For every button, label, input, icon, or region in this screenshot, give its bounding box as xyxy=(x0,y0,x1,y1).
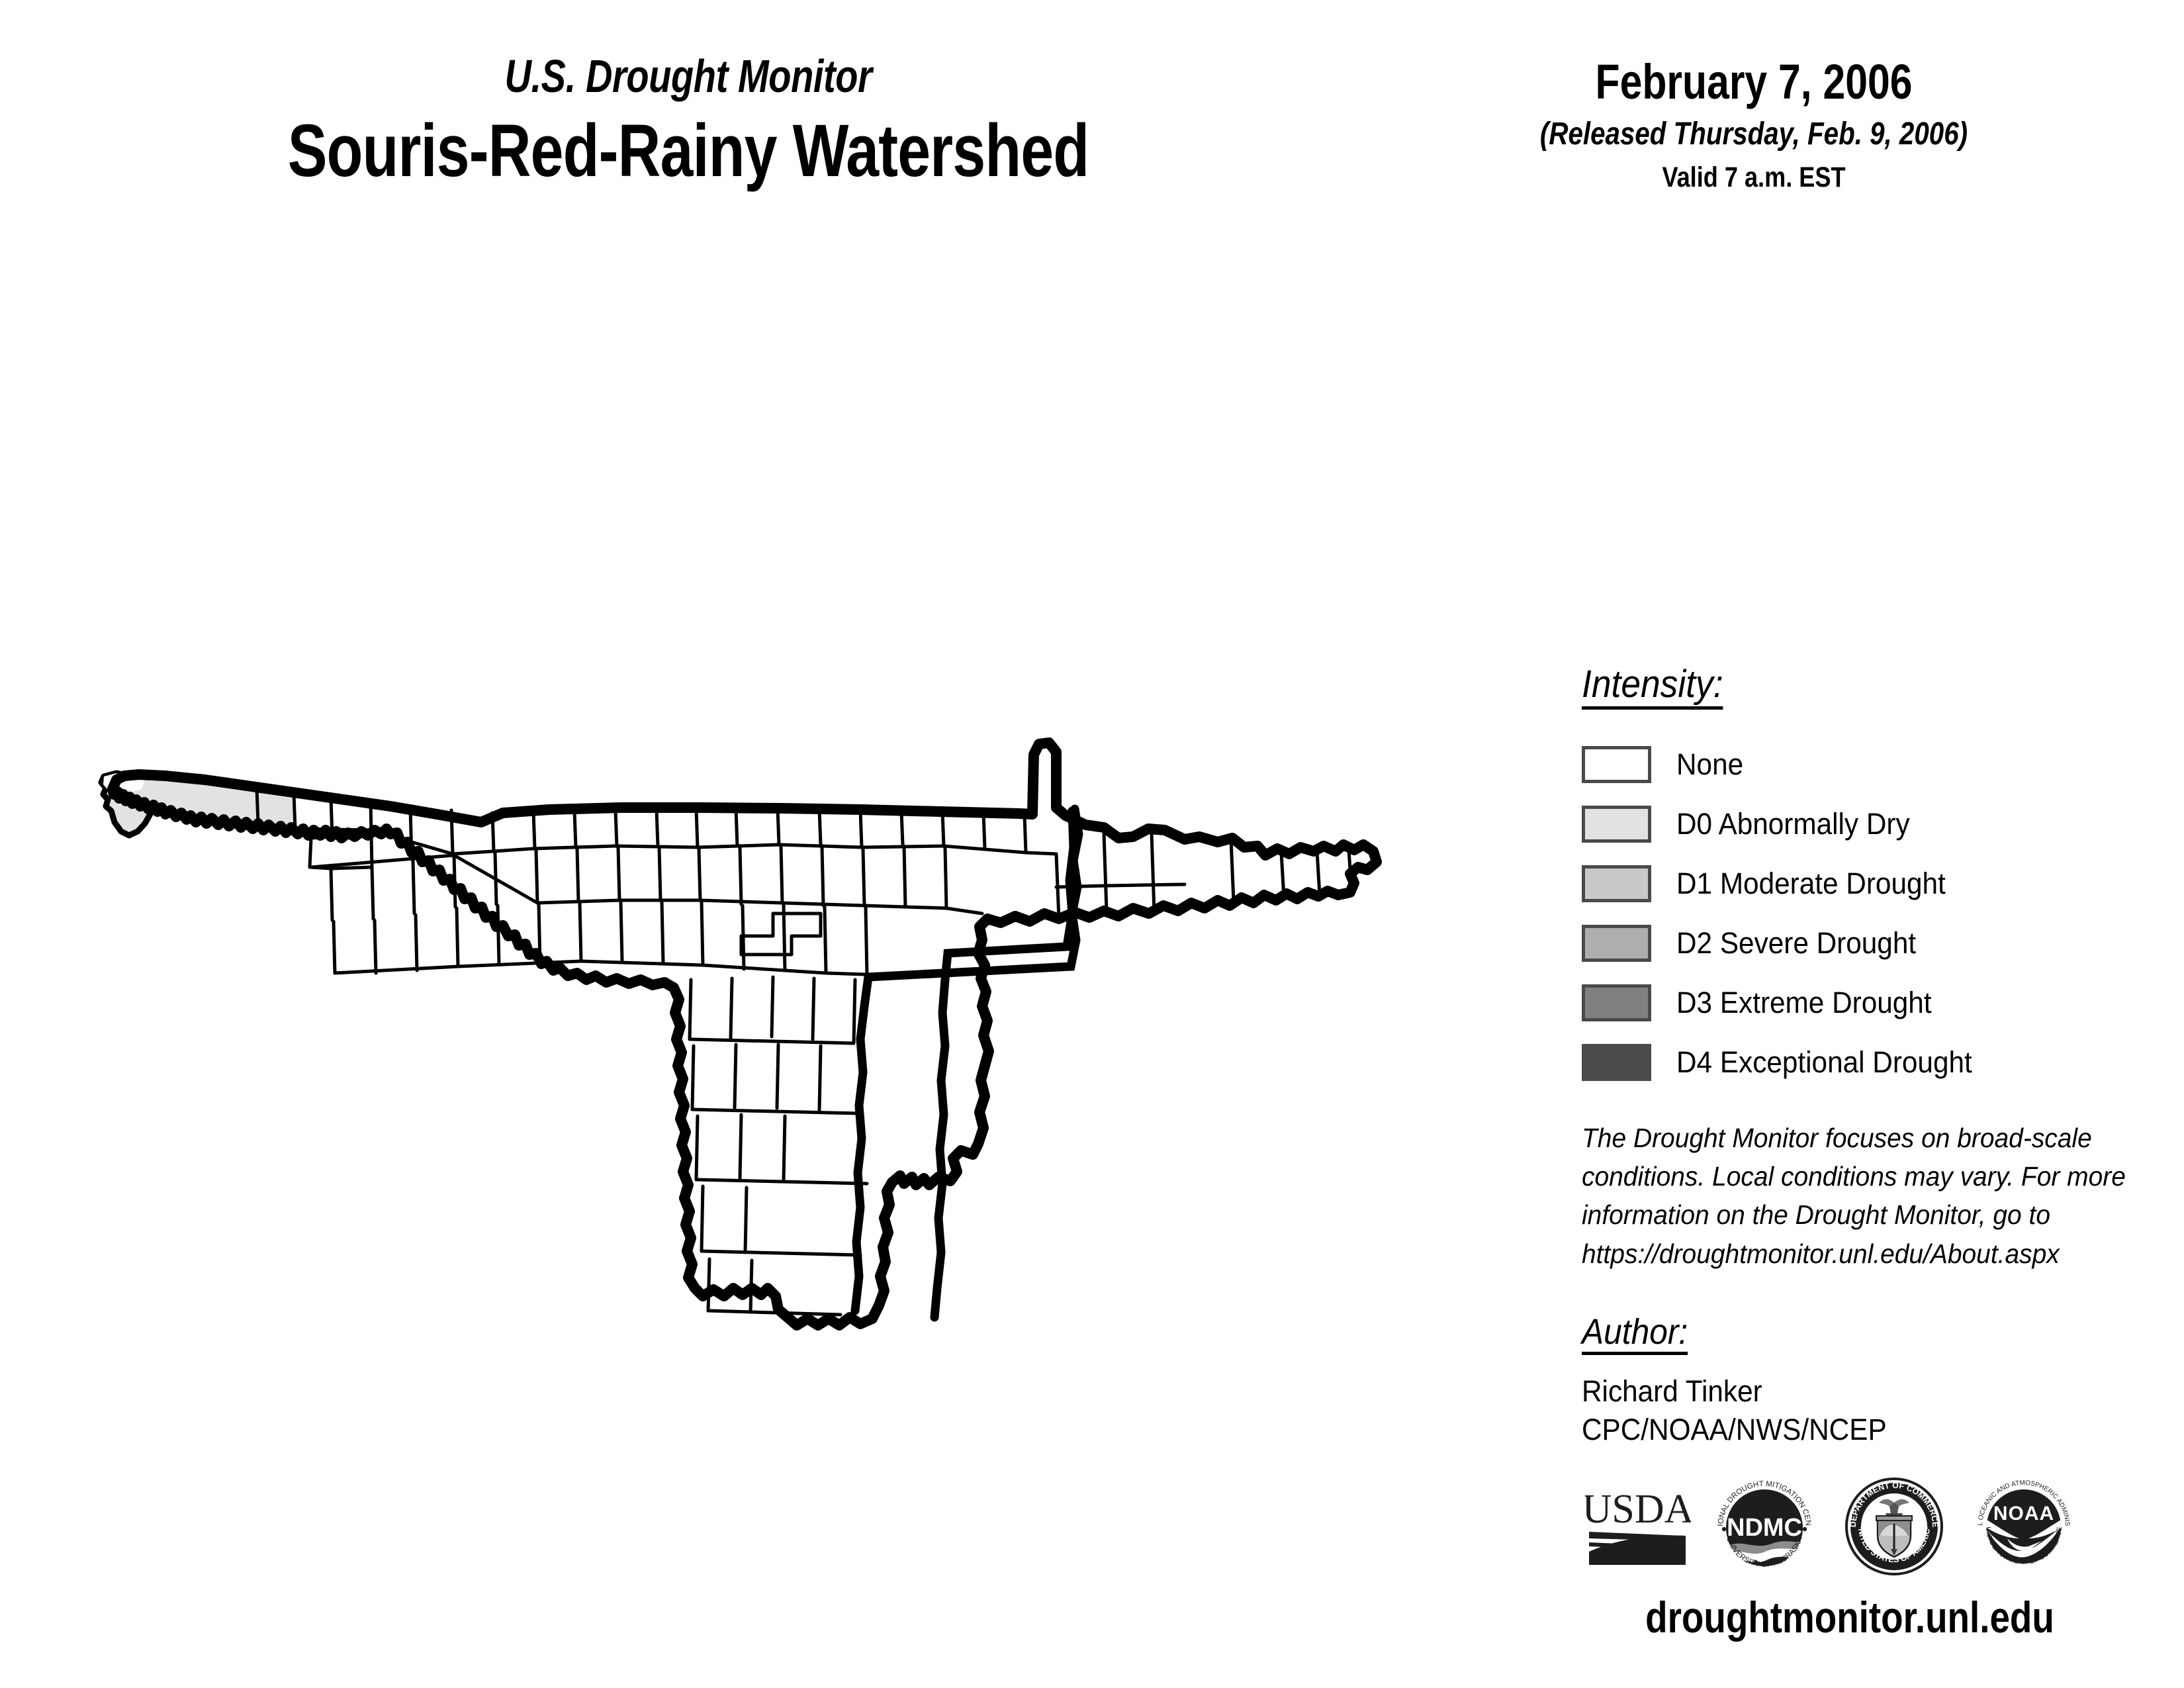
drought-map xyxy=(0,252,1522,1509)
disclaimer-line-1: The Drought Monitor focuses on broad-sca… xyxy=(1582,1119,2085,1157)
program-title: U.S. Drought Monitor xyxy=(138,53,1239,99)
legend-label-d0: D0 Abnormally Dry xyxy=(1676,807,1910,841)
legend-swatch-d0 xyxy=(1582,806,1651,843)
legend-label-d4: D4 Exceptional Drought xyxy=(1676,1045,1972,1080)
noaa-logo: NOAA NATIONAL OCEANIC AND ATMOSPHERIC AD… xyxy=(1968,1470,2080,1582)
ndmc-logo: NDMC NATIONAL DROUGHT MITIGATION CENTER … xyxy=(1708,1470,1821,1582)
legend-item-d3[interactable]: D3 Extreme Drought xyxy=(1582,973,2111,1033)
footer-url[interactable]: droughtmonitor.unl.edu xyxy=(1627,1592,2072,1642)
disclaimer-line-3: information on the Drought Monitor, go t… xyxy=(1582,1196,2085,1234)
svg-text:USDA: USDA xyxy=(1585,1487,1691,1532)
author-name: Richard Tinker xyxy=(1582,1372,2079,1411)
legend-label-d3: D3 Extreme Drought xyxy=(1676,986,1932,1020)
page-title: Souris-Red-Rainy Watershed xyxy=(138,109,1239,194)
legend-swatch-d1 xyxy=(1582,865,1651,902)
valid-time: Valid 7 a.m. EST xyxy=(1492,162,2015,193)
dept-of-commerce-logo: DEPARTMENT OF COMMERCE UNITED STATES OF … xyxy=(1838,1470,1950,1582)
legend-item-d0[interactable]: D0 Abnormally Dry xyxy=(1582,794,2111,854)
map-layers xyxy=(101,743,1377,1325)
release-date: (Released Thursday, Feb. 9, 2006) xyxy=(1492,117,2015,152)
svg-text:NOAA: NOAA xyxy=(1993,1503,2054,1524)
disclaimer-text: The Drought Monitor focuses on broad-sca… xyxy=(1582,1119,2085,1273)
legend-items: None D0 Abnormally Dry D1 Moderate Droug… xyxy=(1582,735,2111,1092)
legend-label-d1: D1 Moderate Drought xyxy=(1676,867,1946,901)
author-block: Author: Richard Tinker CPC/NOAA/NWS/NCEP xyxy=(1582,1314,2111,1448)
disclaimer-line-2: conditions. Local conditions may vary. F… xyxy=(1582,1157,2085,1196)
legend-swatch-d4 xyxy=(1582,1044,1651,1081)
author-heading: Author: xyxy=(1582,1314,1688,1355)
legend-item-d2[interactable]: D2 Severe Drought xyxy=(1582,914,2111,973)
svg-text:NDMC: NDMC xyxy=(1727,1514,1802,1542)
legend-swatch-d3 xyxy=(1582,984,1651,1021)
author-affiliation: CPC/NOAA/NWS/NCEP xyxy=(1582,1411,2079,1449)
legend-swatch-none xyxy=(1582,746,1651,783)
legend-label-none: None xyxy=(1676,747,1743,782)
legend-heading: Intensity: xyxy=(1582,665,1723,710)
legend-swatch-d2 xyxy=(1582,925,1651,962)
legend-label-d2: D2 Severe Drought xyxy=(1676,926,1916,961)
title-block: U.S. Drought Monitor Souris-Red-Rainy Wa… xyxy=(0,53,1377,194)
disclaimer-url[interactable]: https://droughtmonitor.unl.edu/About.asp… xyxy=(1582,1235,2085,1273)
legend: Intensity: None D0 Abnormally Dry D1 Mod… xyxy=(1582,665,2111,1092)
usda-logo: USDA xyxy=(1585,1483,1691,1569)
legend-item-none[interactable]: None xyxy=(1582,735,2111,794)
legend-item-d1[interactable]: D1 Moderate Drought xyxy=(1582,854,2111,914)
legend-item-d4[interactable]: D4 Exceptional Drought xyxy=(1582,1033,2111,1092)
agency-logos: USDA NDMC NATIONAL DROUGHT MITIGATION CE… xyxy=(1585,1460,2115,1592)
date-block: February 7, 2006 (Released Thursday, Feb… xyxy=(1443,56,2065,194)
valid-date: February 7, 2006 xyxy=(1499,56,2009,108)
